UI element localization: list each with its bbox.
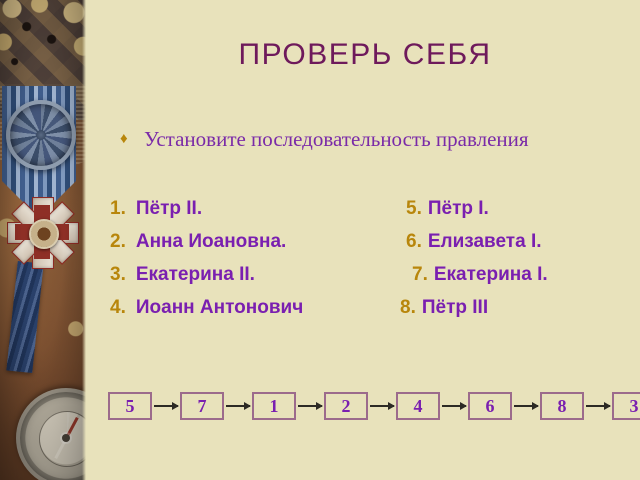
sequence-arrow-icon <box>298 405 322 407</box>
list-item-number: 1. <box>110 198 126 220</box>
list-item-7: 7. Екатерина I. <box>412 264 548 286</box>
list-item-label: Анна Иоановна. <box>136 231 286 253</box>
answer-sequence-chain: 5 7 1 2 4 6 8 3 <box>108 392 640 420</box>
list-item-6: 6. Елизавета I. <box>406 231 542 253</box>
sequence-box-3: 1 <box>252 392 296 420</box>
list-item-number: 7. <box>412 264 428 286</box>
list-item-number: 3. <box>110 264 126 286</box>
list-item-number: 6. <box>406 231 422 253</box>
list-item-label: Иоанн Антонович <box>136 297 303 319</box>
sequence-box-2: 7 <box>180 392 224 420</box>
sequence-box-6: 6 <box>468 392 512 420</box>
list-item-number: 5. <box>406 198 422 220</box>
list-item-number: 2. <box>110 231 126 253</box>
list-item-label: Екатерина II. <box>136 264 255 286</box>
list-item-label: Елизавета I. <box>428 231 542 253</box>
list-item-5: 5. Пётр I. <box>406 198 489 220</box>
sequence-box-8: 3 <box>612 392 640 420</box>
list-item-number: 8. <box>400 297 416 319</box>
instruction-bullet: ♦ Установите последовательность правлени… <box>120 126 590 153</box>
sequence-arrow-icon <box>586 405 610 407</box>
list-row: 3. Екатерина II. 7. Екатерина I. <box>110 264 630 297</box>
list-row: 4. Иоанн Антонович 8. Пётр III <box>110 297 630 330</box>
sequence-box-5: 4 <box>396 392 440 420</box>
sequence-arrow-icon <box>514 405 538 407</box>
list-item-label: Екатерина I. <box>434 264 548 286</box>
list-item-4: 4. Иоанн Антонович <box>110 297 303 319</box>
list-item-label: Пётр I. <box>428 198 489 220</box>
rulers-list: 1. Пётр II. 5. Пётр I. 2. Анна Иоановна.… <box>110 198 630 330</box>
page-title: ПРОВЕРЬ СЕБЯ <box>110 38 620 72</box>
instruction-text: Установите последовательность правления <box>144 126 529 153</box>
sequence-arrow-icon <box>154 405 178 407</box>
photo-vignette <box>0 0 86 480</box>
list-item-2: 2. Анна Иоановна. <box>110 231 286 253</box>
sequence-box-1: 5 <box>108 392 152 420</box>
list-item-number: 4. <box>110 297 126 319</box>
list-item-label: Пётр III <box>422 297 488 319</box>
photo-edge-fade <box>82 0 86 480</box>
list-item-8: 8. Пётр III <box>400 297 488 319</box>
sequence-arrow-icon <box>226 405 250 407</box>
list-item-3: 3. Екатерина II. <box>110 264 255 286</box>
sequence-box-4: 2 <box>324 392 368 420</box>
list-item-label: Пётр II. <box>136 198 202 220</box>
sequence-arrow-icon <box>442 405 466 407</box>
list-row: 1. Пётр II. 5. Пётр I. <box>110 198 630 231</box>
sequence-arrow-icon <box>370 405 394 407</box>
list-row: 2. Анна Иоановна. 6. Елизавета I. <box>110 231 630 264</box>
slide: ПРОВЕРЬ СЕБЯ ♦ Установите последовательн… <box>0 0 640 480</box>
decorative-photo-strip <box>0 0 86 480</box>
sequence-box-7: 8 <box>540 392 584 420</box>
list-item-1: 1. Пётр II. <box>110 198 202 220</box>
diamond-bullet-icon: ♦ <box>120 126 144 152</box>
